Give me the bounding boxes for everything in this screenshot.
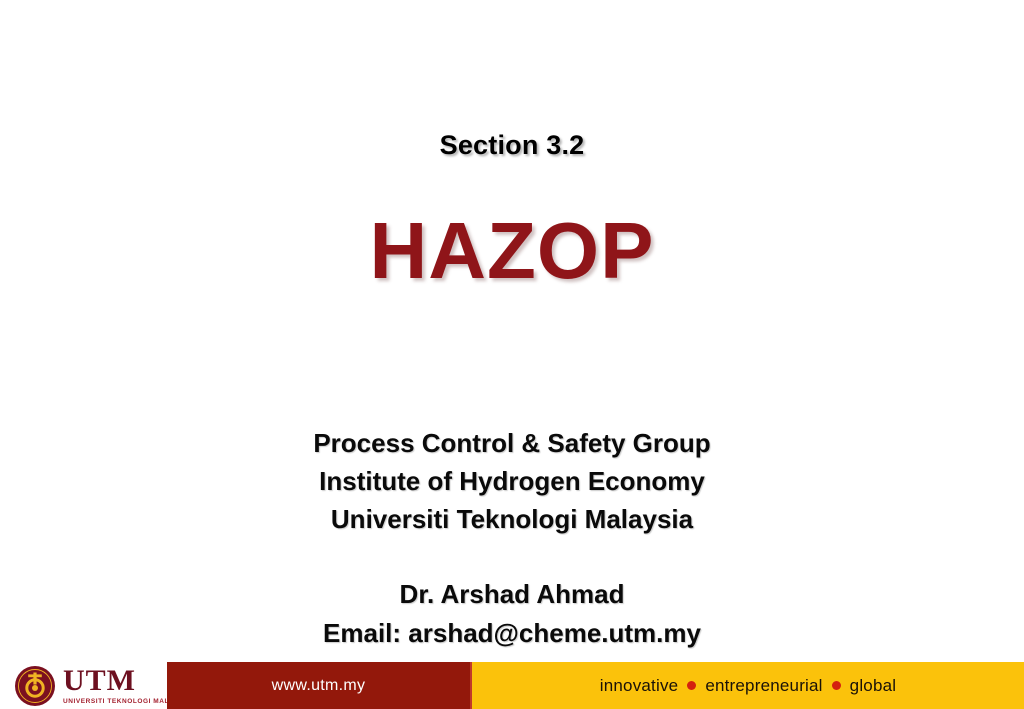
slide-footer: UTM UNIVERSITI TEKNOLOGI MALAYSIA www.ut… (0, 662, 1024, 709)
footer-tagline-band: innovative entrepreneurial global (470, 662, 1024, 709)
tagline-word-entrepreneurial: entrepreneurial (705, 676, 822, 696)
presentation-slide: Section 3.2 HAZOP Process Control & Safe… (0, 0, 1024, 709)
affiliation-block: Process Control & Safety Group Institute… (0, 424, 1024, 538)
tagline: innovative entrepreneurial global (600, 676, 897, 696)
footer-url-band[interactable]: www.utm.my (167, 662, 470, 709)
author-name: Dr. Arshad Ahmad (0, 575, 1024, 614)
utm-logo: UTM UNIVERSITI TEKNOLOGI MALAYSIA (0, 662, 167, 709)
section-label: Section 3.2 (0, 130, 1024, 161)
website-url[interactable]: www.utm.my (272, 677, 366, 695)
tagline-word-innovative: innovative (600, 676, 679, 696)
page-title: HAZOP (0, 207, 1024, 295)
tagline-word-global: global (850, 676, 897, 696)
utm-seal-icon (14, 665, 56, 707)
affiliation-line: Process Control & Safety Group (0, 424, 1024, 462)
slide-content-area: Section 3.2 HAZOP Process Control & Safe… (0, 0, 1024, 662)
affiliation-line: Universiti Teknologi Malaysia (0, 500, 1024, 538)
bullet-dot-icon (687, 681, 696, 690)
bullet-dot-icon (832, 681, 841, 690)
affiliation-line: Institute of Hydrogen Economy (0, 462, 1024, 500)
author-email: Email: arshad@cheme.utm.my (0, 614, 1024, 653)
author-block: Dr. Arshad Ahmad Email: arshad@cheme.utm… (0, 575, 1024, 653)
